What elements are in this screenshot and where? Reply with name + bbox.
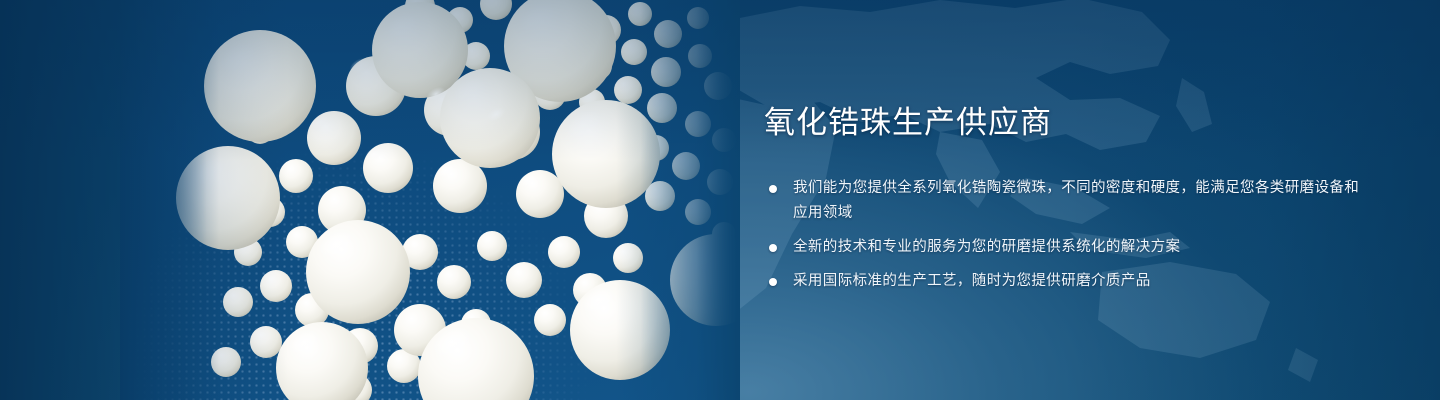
list-item: 我们能为您提供全系列氧化锆陶瓷微珠，不同的密度和硬度，能满足您各类研磨设备和应用…	[764, 176, 1364, 226]
list-item: 采用国际标准的生产工艺，随时为您提供研磨介质产品	[764, 269, 1364, 294]
bullet-dot-icon	[769, 244, 777, 252]
list-item: 全新的技术和专业的服务为您的研磨提供系统化的解决方案	[764, 235, 1364, 260]
list-item-label: 采用国际标准的生产工艺，随时为您提供研磨介质产品	[793, 269, 1364, 294]
page-title: 氧化锆珠生产供应商	[764, 104, 1364, 143]
feature-list: 我们能为您提供全系列氧化锆陶瓷微珠，不同的密度和硬度，能满足您各类研磨设备和应用…	[764, 176, 1364, 294]
bullet-dot-icon	[769, 278, 777, 286]
banner-copy: 氧化锆珠生产供应商 我们能为您提供全系列氧化锆陶瓷微珠，不同的密度和硬度，能满足…	[764, 104, 1364, 294]
bullet-dot-icon	[769, 185, 777, 193]
list-item-label: 我们能为您提供全系列氧化锆陶瓷微珠，不同的密度和硬度，能满足您各类研磨设备和应用…	[793, 176, 1364, 226]
hero-banner: 氧化锆珠生产供应商 我们能为您提供全系列氧化锆陶瓷微珠，不同的密度和硬度，能满足…	[0, 0, 1440, 400]
list-item-label: 全新的技术和专业的服务为您的研磨提供系统化的解决方案	[793, 235, 1364, 260]
